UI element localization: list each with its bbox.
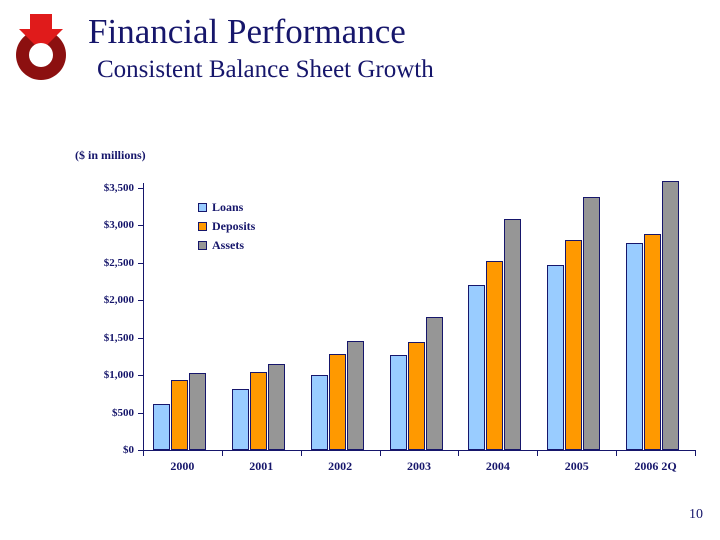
y-axis-label: $0 [123,444,134,456]
y-axis-label: $3,000 [104,219,134,231]
bar-loans-2003 [390,355,407,450]
y-axis-label: $2,000 [104,294,134,306]
legend-item-assets[interactable]: Assets [198,236,255,254]
y-axis-label: $500 [112,407,134,419]
x-axis-tick [301,450,302,456]
y-axis-tick [138,225,143,226]
page-number: 10 [689,507,703,523]
y-axis-tick [138,375,143,376]
bar-loans-2004 [468,285,485,450]
y-axis-label: $2,500 [104,257,134,269]
x-axis-label-2002: 2002 [328,459,352,474]
legend-swatch-assets [198,241,207,250]
x-axis-label-2000: 2000 [170,459,194,474]
bar-assets-2003 [426,317,443,450]
bar-loans-2002 [311,375,328,450]
x-axis-tick [143,450,144,456]
x-axis-label-2001: 2001 [249,459,273,474]
bar-deposits-2002 [329,354,346,450]
legend-swatch-loans [198,203,207,212]
y-axis-tick [138,263,143,264]
x-axis-tick [222,450,223,456]
x-axis-tick [537,450,538,456]
y-axis-line [143,183,144,451]
bar-assets-2002 [347,341,364,450]
bar-deposits-2005 [565,240,582,450]
bar-loans-2006-2Q [626,243,643,450]
y-axis-tick [138,300,143,301]
bar-deposits-2001 [250,372,267,450]
legend-label-loans: Loans [212,200,243,215]
y-axis-label: $1,000 [104,369,134,381]
bar-deposits-2000 [171,380,188,450]
bar-assets-2005 [583,197,600,450]
x-axis-tick [380,450,381,456]
bar-loans-2005 [547,265,564,450]
chart-units-note: ($ in millions) [75,148,146,163]
bar-chart: ($ in millions) $0$500$1,000$1,500$2,000… [0,0,720,540]
bar-deposits-2003 [408,342,425,450]
legend-label-assets: Assets [212,238,244,253]
y-axis-tick [138,338,143,339]
bar-assets-2001 [268,364,285,450]
x-axis-label-2005: 2005 [565,459,589,474]
bar-loans-2001 [232,389,249,450]
bar-assets-2006-2Q [662,181,679,450]
y-axis-tick [138,188,143,189]
x-axis-tick [616,450,617,456]
legend-label-deposits: Deposits [212,219,255,234]
legend-swatch-deposits [198,222,207,231]
y-axis-tick [138,413,143,414]
bar-deposits-2004 [486,261,503,450]
legend-item-loans[interactable]: Loans [198,198,255,216]
y-axis-label: $3,500 [104,182,134,194]
y-axis-label: $1,500 [104,332,134,344]
x-axis-tick [695,450,696,456]
bar-assets-2000 [189,373,206,450]
legend-item-deposits[interactable]: Deposits [198,217,255,235]
x-axis-tick [458,450,459,456]
x-axis-label-2003: 2003 [407,459,431,474]
bar-loans-2000 [153,404,170,450]
x-axis-line [143,450,695,451]
x-axis-label-2006-2Q: 2006 2Q [634,459,676,474]
bar-assets-2004 [504,219,521,450]
x-axis-label-2004: 2004 [486,459,510,474]
bar-deposits-2006-2Q [644,234,661,450]
chart-legend: LoansDepositsAssets [198,198,255,255]
